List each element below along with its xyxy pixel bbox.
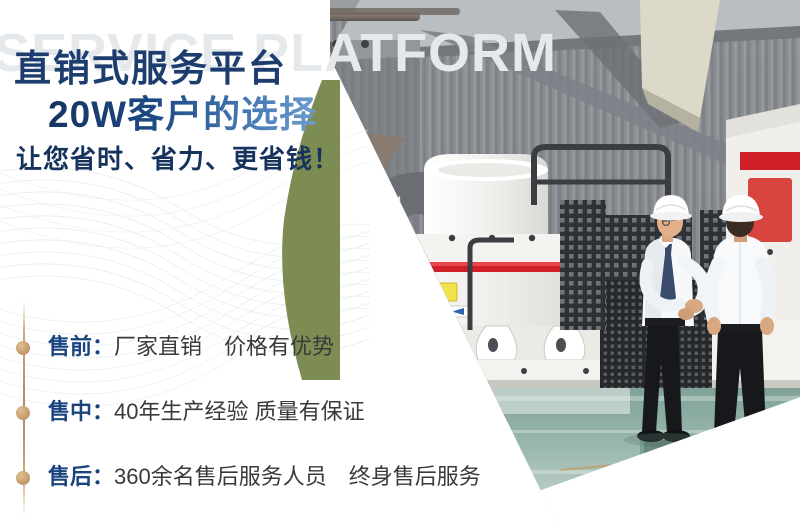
bullet-body: 厂家直销 价格有优势 [114, 334, 334, 359]
list-item: 售后：360余名售后服务人员 终身售后服务 [0, 460, 600, 494]
bullet-content: 售前：厂家直销 价格有优势 [48, 330, 334, 364]
machine-warning-icon: ⚠ [438, 288, 447, 299]
bullet-dot-icon [16, 406, 30, 420]
bullet-dot-icon [16, 341, 30, 355]
bullet-dot-icon [16, 471, 30, 485]
bullet-body: 40年生产经验 质量有保证 [114, 399, 365, 424]
bullet-body: 360余名售后服务人员 终身售后服务 [114, 464, 481, 489]
service-bullet-list: 售前：厂家直销 价格有优势 售中：40年生产经验 质量有保证 售后：360余名售… [0, 300, 600, 520]
bullet-content: 售中：40年生产经验 质量有保证 [48, 395, 365, 429]
headline-tertiary: 让您省时、省力、更省钱！ [16, 139, 340, 176]
service-platform-banner: ⚠ [0, 0, 800, 530]
list-item: 售前：厂家直销 价格有优势 [0, 330, 600, 364]
bullet-content: 售后：360余名售后服务人员 终身售后服务 [48, 460, 481, 494]
headline-secondary: 20W客户的选择 [48, 84, 317, 138]
bullet-label: 售后： [48, 464, 114, 489]
list-item: 售中：40年生产经验 质量有保证 [0, 395, 600, 429]
bullet-label: 售前： [48, 334, 114, 359]
bullet-label: 售中： [48, 399, 114, 424]
